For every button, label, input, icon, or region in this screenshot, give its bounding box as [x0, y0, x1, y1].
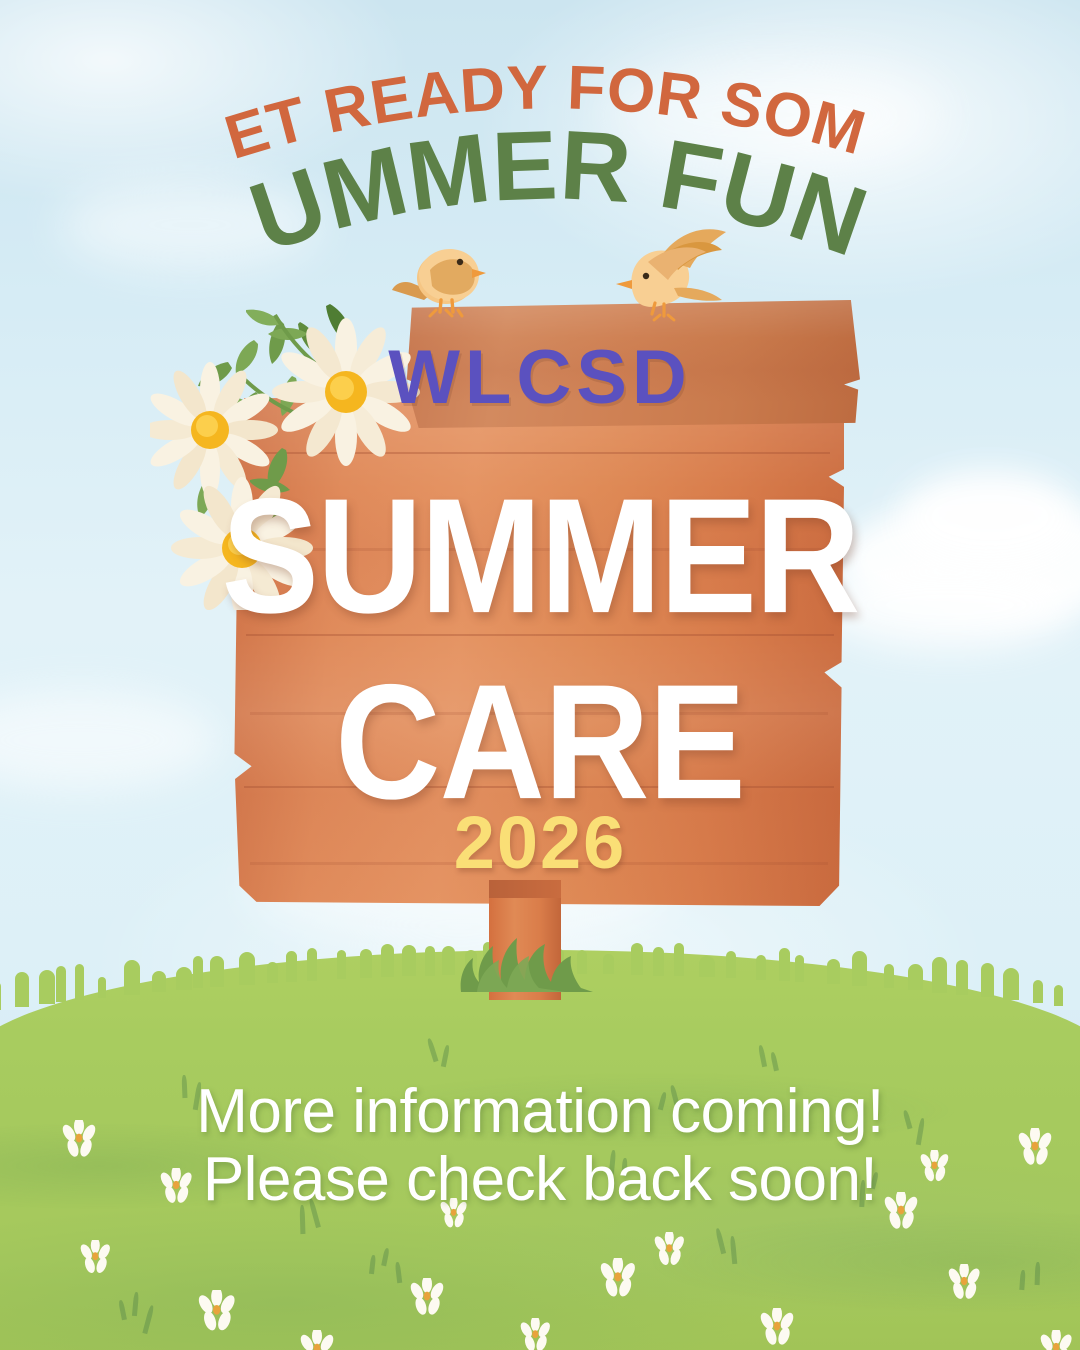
sign-title-line-1: SUMMER — [0, 462, 1080, 650]
headline-block: GET READY FOR SOME SUMMER FUN! — [0, 28, 1080, 258]
footer-message: More information coming! Please check ba… — [0, 1078, 1080, 1214]
footer-line-1: More information coming! — [0, 1078, 1080, 1146]
summer-care-poster: GET READY FOR SOME SUMMER FUN! WLCSD SUM… — [0, 0, 1080, 1350]
sign-organization-label: WLCSD — [0, 334, 1080, 421]
headline-arc-svg: GET READY FOR SOME SUMMER FUN! — [0, 28, 1080, 258]
footer-line-2: Please check back soon! — [0, 1146, 1080, 1214]
sign-year: 2026 — [0, 800, 1080, 885]
